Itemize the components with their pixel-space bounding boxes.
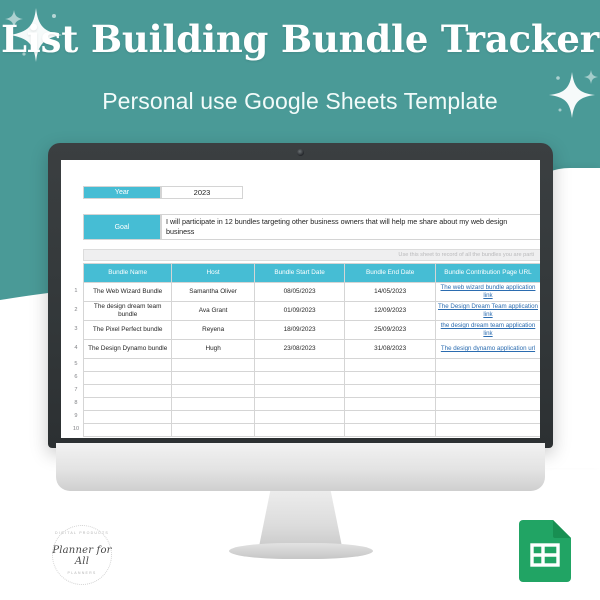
cell-host[interactable] xyxy=(172,359,254,372)
cell-start-date[interactable] xyxy=(254,372,345,385)
cell-bundle-name[interactable] xyxy=(83,359,172,372)
cell-host[interactable] xyxy=(172,372,254,385)
goal-row: Goal I will participate in 12 bundles ta… xyxy=(83,214,540,240)
row-number: 7 xyxy=(69,385,83,398)
table-row[interactable]: 3 The Pixel Perfect bundle Reyena 18/09/… xyxy=(69,321,540,340)
monitor-stand-neck xyxy=(259,491,343,549)
cell-start-date[interactable] xyxy=(254,398,345,411)
col-header-start-date[interactable]: Bundle Start Date xyxy=(254,264,345,283)
cell-host[interactable]: Ava Grant xyxy=(172,302,254,321)
cell-start-date[interactable]: 01/09/2023 xyxy=(254,302,345,321)
cell-end-date[interactable]: 25/09/2023 xyxy=(345,321,436,340)
monitor-stand-foot xyxy=(229,543,373,559)
cell-host[interactable] xyxy=(172,398,254,411)
table-row[interactable]: 1 The Web Wizard Bundle Samantha Oliver … xyxy=(69,283,540,302)
cell-host[interactable] xyxy=(172,424,254,437)
cell-end-date[interactable]: 31/08/2023 xyxy=(345,340,436,359)
cell-url[interactable] xyxy=(435,385,540,398)
url-link[interactable]: The design dynamo application url xyxy=(436,345,540,353)
cell-bundle-name[interactable] xyxy=(83,398,172,411)
table-row[interactable]: 9 xyxy=(69,411,540,424)
table-row[interactable]: 2 The design dream team bundle Ava Grant… xyxy=(69,302,540,321)
cell-end-date[interactable] xyxy=(345,411,436,424)
url-link[interactable]: The Design Dream Team application link xyxy=(436,303,540,319)
brand-ring-top-text: DIGITAL PRODUCTS xyxy=(44,531,120,535)
year-row: Year 2023 xyxy=(83,186,243,199)
cell-url[interactable] xyxy=(435,398,540,411)
cell-start-date[interactable] xyxy=(254,424,345,437)
year-label: Year xyxy=(83,186,161,199)
cell-start-date[interactable]: 23/08/2023 xyxy=(254,340,345,359)
bundle-table: Bundle Name Host Bundle Start Date Bundl… xyxy=(69,263,540,437)
col-header-url[interactable]: Bundle Contribution Page URL xyxy=(435,264,540,283)
year-value-cell[interactable]: 2023 xyxy=(161,186,243,199)
row-number: 10 xyxy=(69,424,83,437)
row-number: 9 xyxy=(69,411,83,424)
brand-logo: DIGITAL PRODUCTS Planner for All PLANNER… xyxy=(44,521,120,587)
cell-url[interactable]: The web wizard bundle application link xyxy=(435,283,540,302)
row-number: 5 xyxy=(69,359,83,372)
cell-start-date[interactable]: 18/09/2023 xyxy=(254,321,345,340)
cell-bundle-name[interactable] xyxy=(83,411,172,424)
row-number: 4 xyxy=(69,340,83,359)
cell-end-date[interactable] xyxy=(345,372,436,385)
sheet-note: Use this sheet to record of all the bund… xyxy=(83,249,540,261)
cell-end-date[interactable] xyxy=(345,385,436,398)
table-row[interactable]: 8 xyxy=(69,398,540,411)
table-row[interactable]: 10 xyxy=(69,424,540,437)
cell-end-date[interactable] xyxy=(345,398,436,411)
row-number: 8 xyxy=(69,398,83,411)
url-link[interactable]: the design dream team application link xyxy=(436,322,540,338)
brand-ring-bottom-text: PLANNERS xyxy=(44,571,120,575)
google-sheets-icon xyxy=(519,520,571,582)
cell-url[interactable] xyxy=(435,372,540,385)
bundle-table-wrapper: Bundle Name Host Bundle Start Date Bundl… xyxy=(69,263,540,437)
cell-host[interactable]: Hugh xyxy=(172,340,254,359)
monitor-screen: Year 2023 Goal I will participate in 12 … xyxy=(61,160,540,438)
cell-host[interactable]: Reyena xyxy=(172,321,254,340)
brand-name: Planner for All xyxy=(44,545,120,567)
row-number: 3 xyxy=(69,321,83,340)
cell-bundle-name[interactable] xyxy=(83,372,172,385)
row-number: 6 xyxy=(69,372,83,385)
monitor-chin xyxy=(56,443,545,491)
cell-url[interactable] xyxy=(435,411,540,424)
table-row[interactable]: 4 The Design Dynamo bundle Hugh 23/08/20… xyxy=(69,340,540,359)
cell-bundle-name[interactable]: The design dream team bundle xyxy=(83,302,172,321)
cell-start-date[interactable] xyxy=(254,385,345,398)
page-title: List Building Bundle Tracker xyxy=(0,18,600,61)
bundle-table-body: 1 The Web Wizard Bundle Samantha Oliver … xyxy=(69,283,540,437)
cell-url[interactable]: The design dynamo application url xyxy=(435,340,540,359)
cell-end-date[interactable] xyxy=(345,359,436,372)
row-number: 1 xyxy=(69,283,83,302)
cell-host[interactable] xyxy=(172,411,254,424)
webcam-icon xyxy=(297,149,304,156)
cell-url[interactable] xyxy=(435,424,540,437)
cell-start-date[interactable]: 08/05/2023 xyxy=(254,283,345,302)
col-header-end-date[interactable]: Bundle End Date xyxy=(345,264,436,283)
promo-graphic: List Building Bundle Tracker Personal us… xyxy=(0,0,600,600)
cell-start-date[interactable] xyxy=(254,411,345,424)
table-row[interactable]: 5 xyxy=(69,359,540,372)
cell-end-date[interactable]: 12/09/2023 xyxy=(345,302,436,321)
cell-bundle-name[interactable] xyxy=(83,385,172,398)
cell-url[interactable]: the design dream team application link xyxy=(435,321,540,340)
cell-host[interactable]: Samantha Oliver xyxy=(172,283,254,302)
cell-url[interactable]: The Design Dream Team application link xyxy=(435,302,540,321)
monitor-mockup: Year 2023 Goal I will participate in 12 … xyxy=(48,143,553,463)
cell-bundle-name[interactable]: The Design Dynamo bundle xyxy=(83,340,172,359)
url-link[interactable]: The web wizard bundle application link xyxy=(436,284,540,300)
goal-label: Goal xyxy=(83,214,161,240)
spreadsheet: Year 2023 Goal I will participate in 12 … xyxy=(61,160,540,438)
cell-bundle-name[interactable] xyxy=(83,424,172,437)
cell-bundle-name[interactable]: The Web Wizard Bundle xyxy=(83,283,172,302)
cell-host[interactable] xyxy=(172,385,254,398)
cell-bundle-name[interactable]: The Pixel Perfect bundle xyxy=(83,321,172,340)
col-header-bundle-name[interactable]: Bundle Name xyxy=(83,264,172,283)
rownum-header xyxy=(69,264,83,283)
cell-url[interactable] xyxy=(435,359,540,372)
goal-value-cell[interactable]: I will participate in 12 bundles targeti… xyxy=(161,214,540,240)
row-number: 2 xyxy=(69,302,83,321)
col-header-host[interactable]: Host xyxy=(172,264,254,283)
cell-start-date[interactable] xyxy=(254,359,345,372)
cell-end-date[interactable] xyxy=(345,424,436,437)
page-subtitle: Personal use Google Sheets Template xyxy=(0,88,600,115)
table-row[interactable]: 7 xyxy=(69,385,540,398)
table-header-row: Bundle Name Host Bundle Start Date Bundl… xyxy=(69,264,540,283)
cell-end-date[interactable]: 14/05/2023 xyxy=(345,283,436,302)
table-row[interactable]: 6 xyxy=(69,372,540,385)
